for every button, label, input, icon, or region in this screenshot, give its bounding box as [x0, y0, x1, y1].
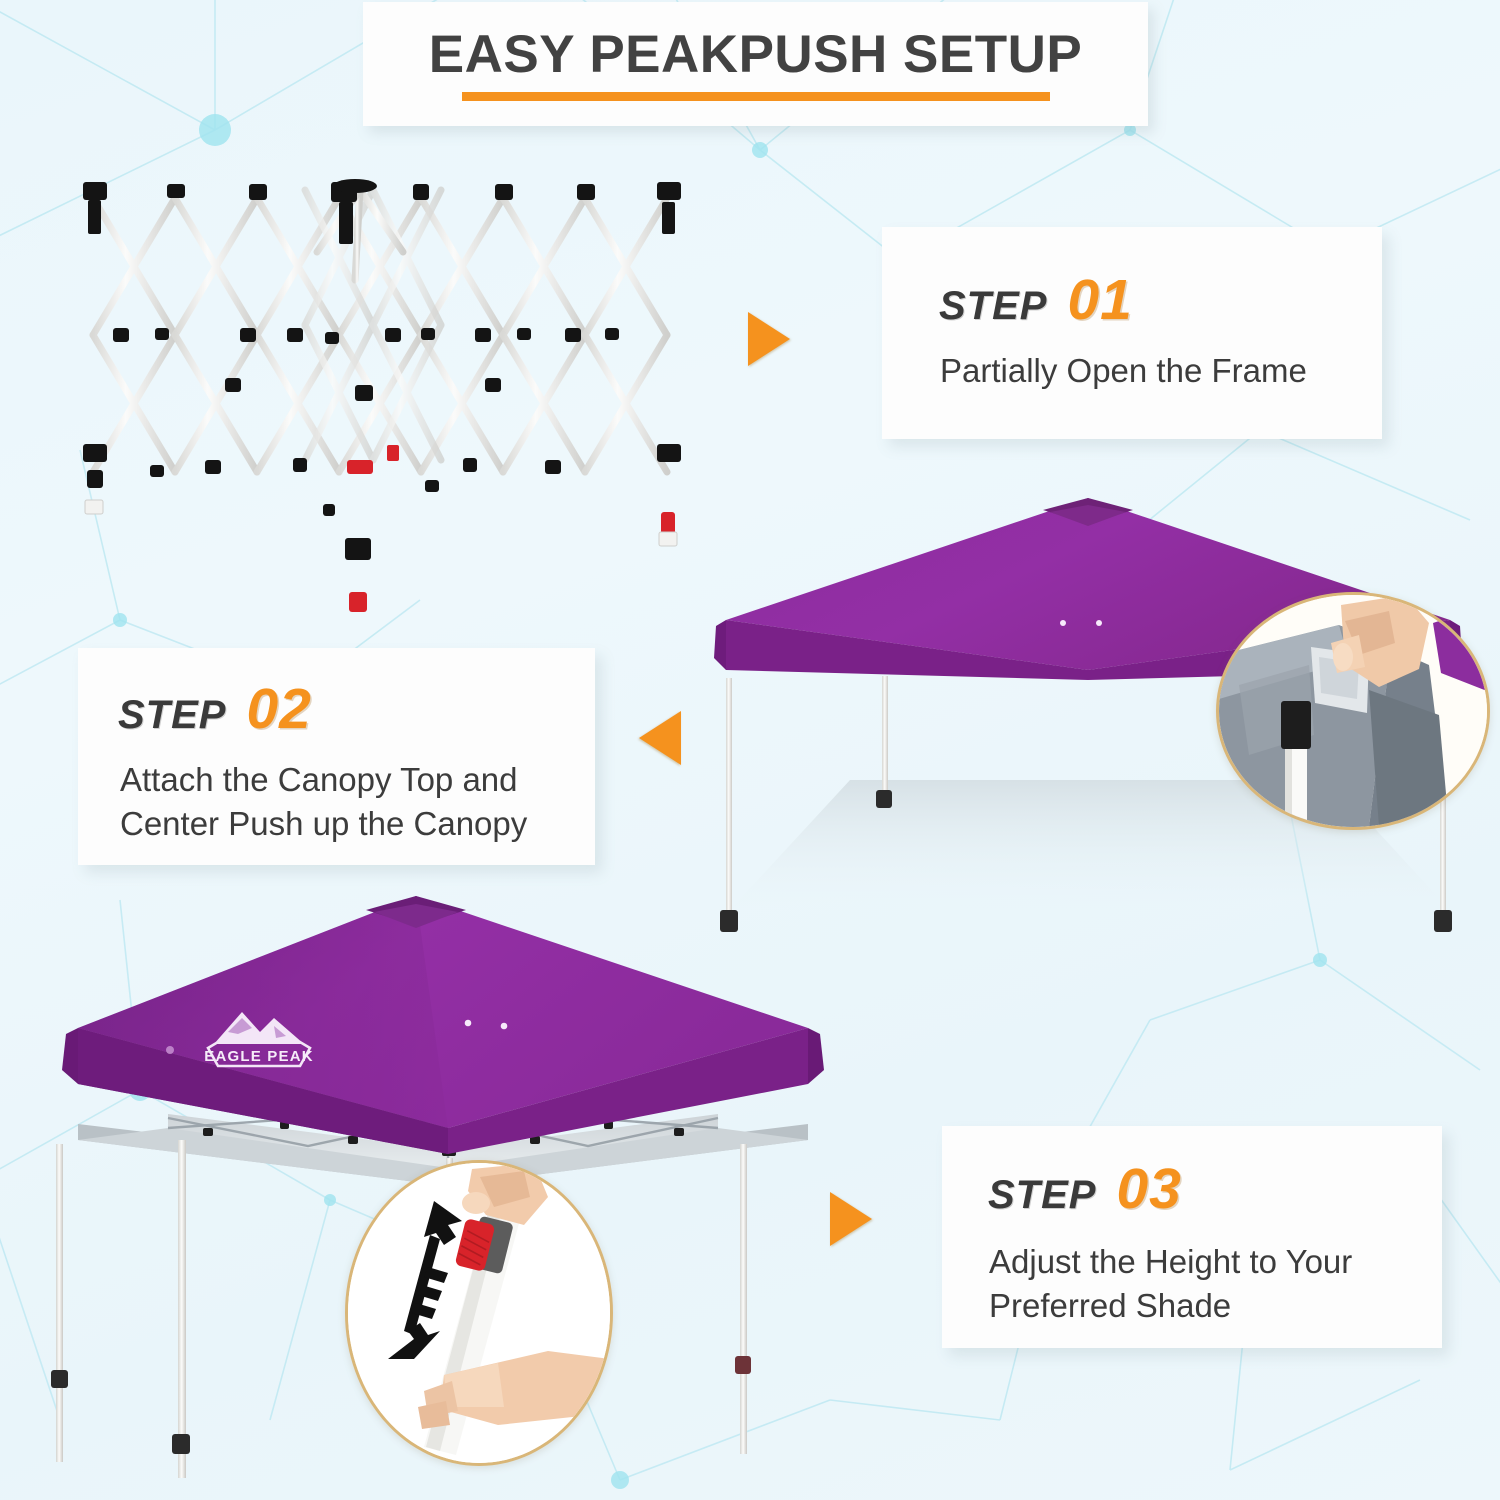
step-02-heading: STEP02 [118, 676, 312, 742]
step-02-description-line2: Center Push up the Canopy [120, 802, 590, 846]
step-03-number: 03 [1116, 1157, 1181, 1221]
step-card-01: STEP01 Partially Open the Frame [882, 227, 1382, 439]
step-02-description-line1: Attach the Canopy Top and [120, 758, 590, 802]
step-02-number: 02 [246, 677, 311, 741]
step-02-word: STEP [118, 693, 226, 737]
release-button-icon [347, 445, 675, 612]
step-01-description: Partially Open the Frame [940, 349, 1370, 393]
arrow-right-icon [830, 1192, 872, 1246]
canopy-frame-illustration [55, 160, 715, 630]
step-03-description-line2: Preferred Shade [989, 1284, 1429, 1328]
step-03-description: Adjust the Height to Your Preferred Shad… [989, 1240, 1429, 1327]
step-03-word: STEP [988, 1173, 1096, 1217]
step-01-word: STEP [939, 284, 1047, 328]
page-title: EASY PEAKPUSH SETUP [363, 24, 1148, 85]
title-underline-rule [462, 92, 1050, 101]
inset-attach-canopy-photo [1216, 592, 1490, 830]
arrow-right-icon [748, 312, 790, 366]
svg-text:EAGLE PEAK: EAGLE PEAK [204, 1048, 314, 1065]
infographic-stage: EASY PEAKPUSH SETUP [0, 0, 1500, 1500]
inset-adjust-height-photo [345, 1160, 613, 1466]
step-02-description: Attach the Canopy Top and Center Push up… [120, 758, 590, 845]
title-card: EASY PEAKPUSH SETUP [363, 2, 1148, 126]
step-03-description-line1: Adjust the Height to Your [989, 1240, 1429, 1284]
step-card-02: STEP02 Attach the Canopy Top and Center … [78, 648, 595, 865]
step-03-heading: STEP03 [988, 1156, 1182, 1222]
arrow-left-icon [639, 711, 681, 765]
step-01-number: 01 [1067, 268, 1132, 332]
step-card-03: STEP03 Adjust the Height to Your Preferr… [942, 1126, 1442, 1348]
step-01-heading: STEP01 [939, 267, 1133, 333]
